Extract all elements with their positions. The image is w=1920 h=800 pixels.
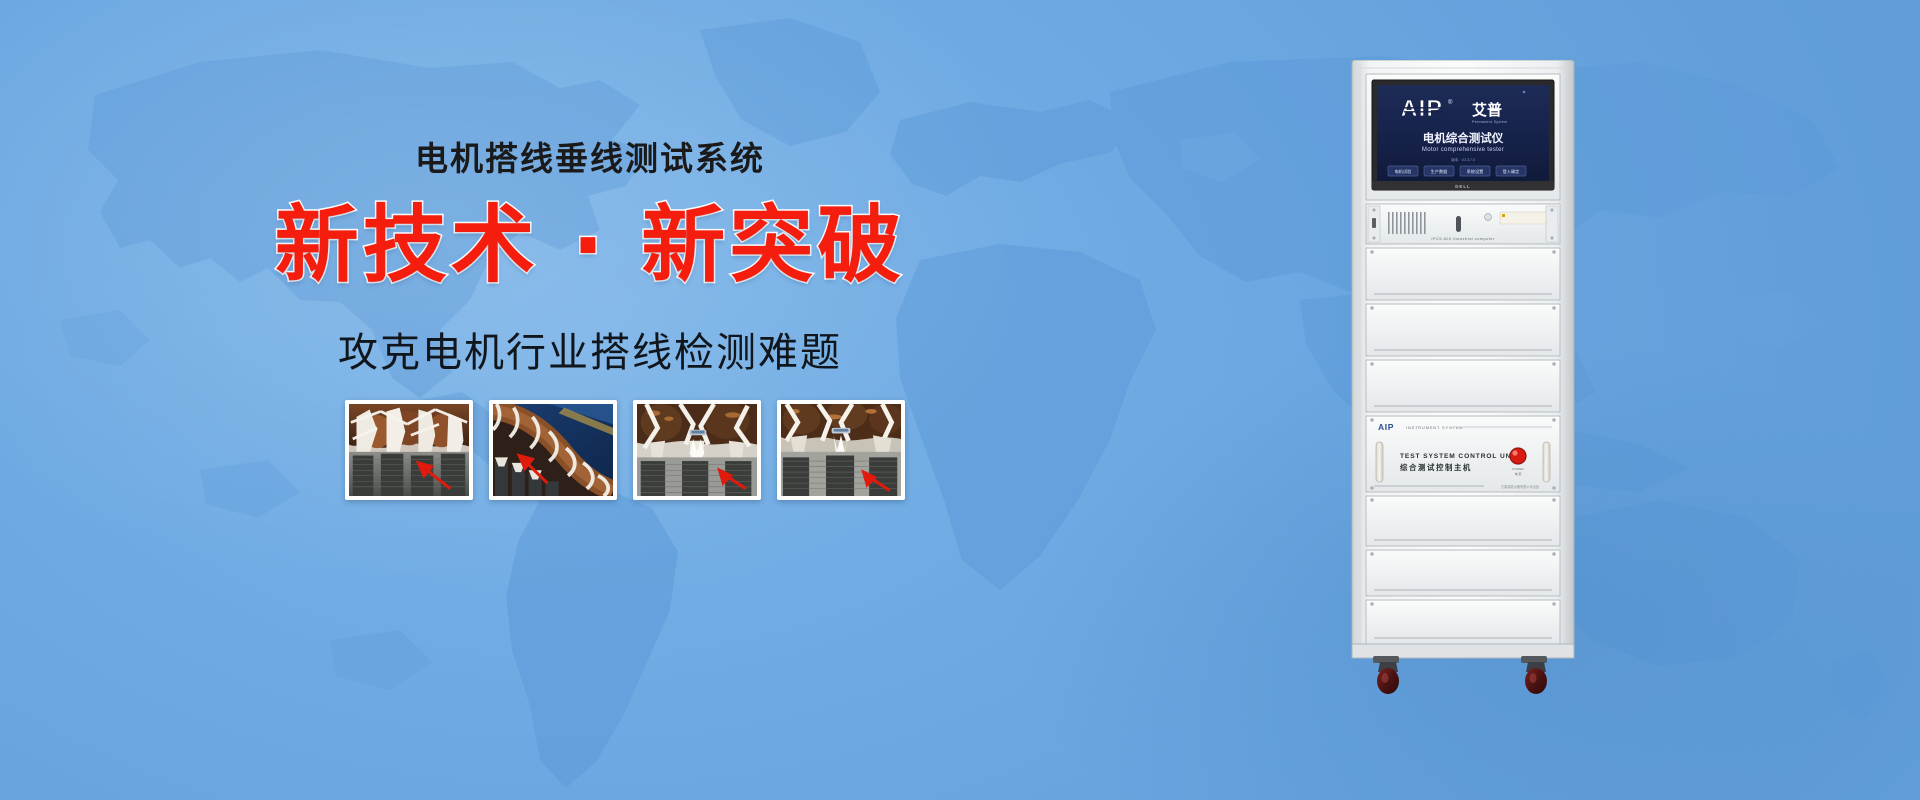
caster-right: [1521, 656, 1547, 694]
thumbnail-3[interactable]: [633, 400, 761, 500]
thumbnail-4[interactable]: [777, 400, 905, 500]
control-unit-title-cn: 综合测试控制主机: [1400, 463, 1472, 472]
screen-brand-cn: 艾普: [1472, 101, 1502, 119]
control-unit-handle-left: [1376, 442, 1383, 482]
power-indicator-label: POWER: [1512, 467, 1524, 471]
screen-button-2: 生产数据: [1424, 166, 1454, 176]
control-unit-title-en: TEST SYSTEM CONTROL UNIT: [1400, 453, 1519, 460]
control-unit: AIP INSTRUMENT SYSTEM TEST SYSTEM CONTRO…: [1366, 416, 1560, 492]
caster-left: [1373, 656, 1399, 694]
thumbnail-2[interactable]: [489, 400, 617, 500]
banner-tagline: 攻克电机行业搭线检测难题: [0, 320, 1180, 378]
world-map-background: [0, 0, 1920, 800]
thumbnail-1[interactable]: [345, 400, 473, 500]
module-panel-1: [1366, 248, 1560, 300]
control-unit-handle-right: [1543, 442, 1550, 482]
industrial-computer-model: IPC5-820 Industrial computer: [1431, 236, 1494, 241]
screen-button-2-label: 生产数据: [1431, 168, 1448, 175]
promo-banner: 电机搭线垂线测试系统 新技术 · 新突破 攻克电机行业搭线检测难题: [0, 0, 1920, 800]
test-equipment-cabinet[interactable]: AIP ® 艾普 Permanent System 电机综合测试仪 Motor …: [1348, 60, 1578, 700]
power-indicator-label-cn: 电 源: [1515, 471, 1522, 476]
screen-version: 版本：V.2.3.7.0: [1451, 157, 1475, 162]
screen-button-3-label: 系统设置: [1467, 168, 1484, 175]
module-panel-4: [1366, 496, 1560, 546]
banner-eyebrow: 电机搭线垂线测试系统: [0, 132, 1180, 180]
screen-button-1: 电机试验: [1388, 166, 1418, 176]
module-panel-6: [1366, 600, 1560, 644]
screen-button-1-label: 电机试验: [1395, 168, 1413, 175]
screen-button-4: 登入确定: [1496, 166, 1526, 176]
thumbnail-strip: [345, 400, 905, 500]
screen-title-en: Motor comprehensive tester: [1422, 147, 1504, 153]
control-unit-brand-sub: INSTRUMENT SYSTEM: [1406, 425, 1463, 430]
screen-brand-registered: ®: [1448, 99, 1453, 106]
monitor-bezel-brand: DELL: [1455, 184, 1470, 189]
screen-title-cn: 电机综合测试仪: [1423, 131, 1504, 145]
screen-button-3: 系统设置: [1460, 166, 1490, 176]
module-panel-5: [1366, 550, 1560, 596]
control-unit-footer-note: 艾普智能仪器有限公司出品: [1501, 484, 1539, 489]
module-panel-2: [1366, 304, 1560, 356]
screen-button-4-label: 登入确定: [1503, 168, 1520, 175]
banner-headline: 新技术 · 新突破: [0, 198, 1180, 292]
control-unit-brand: AIP: [1378, 422, 1394, 432]
screen-brand-sub: Permanent System: [1472, 120, 1507, 124]
industrial-computer: IPC5-820 Industrial computer: [1366, 204, 1560, 244]
module-panel-3: [1366, 360, 1560, 412]
